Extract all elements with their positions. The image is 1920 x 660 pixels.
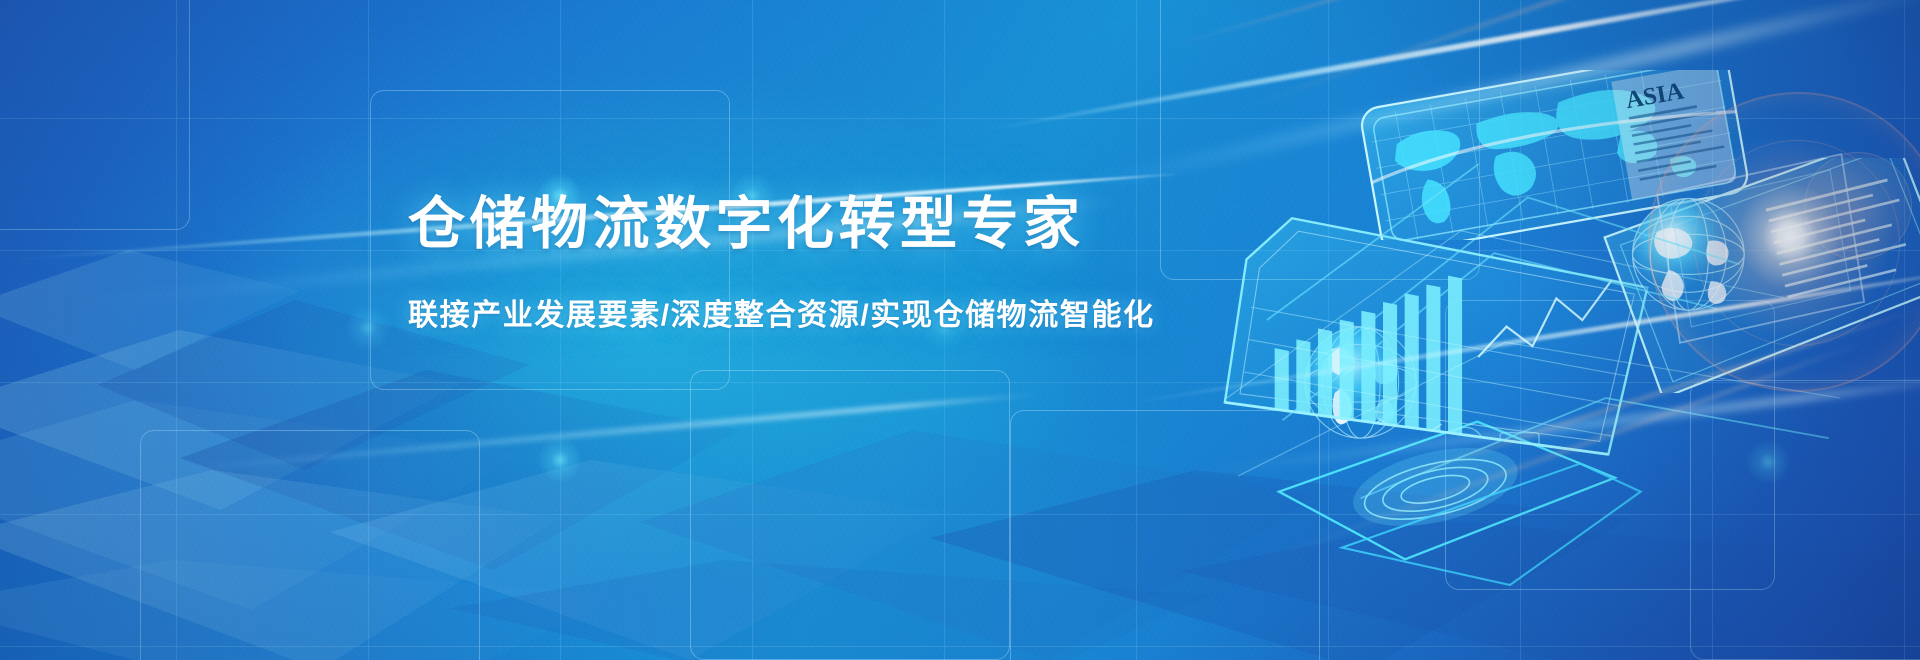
- light-streak-warm: [1329, 307, 1920, 502]
- glow-platform-rings: [1230, 350, 1650, 610]
- facet-plane: [1180, 520, 1920, 660]
- facet-plane: [0, 470, 560, 660]
- facet-plane: [180, 370, 740, 570]
- light-streak-warm: [1229, 0, 1920, 114]
- facet-plane: [930, 470, 1630, 660]
- grid-node-glow: [1745, 439, 1791, 485]
- facet-plane: [0, 330, 460, 510]
- facet-plane: [450, 560, 1210, 660]
- grid-rounded-box: [0, 0, 190, 230]
- data-text-panel: [1590, 158, 1920, 393]
- hero-banner: ASIA: [0, 0, 1920, 660]
- flare-core-glow: [1665, 111, 1915, 361]
- bar-chart-panel: [1175, 165, 1695, 525]
- light-streak: [1179, 373, 1920, 479]
- facet-plane: [0, 400, 520, 610]
- facet-plane: [0, 560, 620, 660]
- grid-rounded-box: [1445, 300, 1775, 590]
- world-map-panel: ASIA: [1360, 70, 1760, 240]
- light-streak: [1120, 264, 1920, 407]
- grid-rounded-box: [1160, 0, 1480, 280]
- grid-rounded-box: [140, 430, 480, 660]
- light-streak: [1059, 0, 1920, 198]
- hero-text-block: 仓储物流数字化转型专家 联接产业发展要素/深度整合资源/实现仓储物流智能化: [408, 196, 1108, 334]
- flare-orb: [1804, 152, 1912, 260]
- facet-plane: [330, 460, 950, 660]
- flare-halo-ring: [1648, 92, 1920, 392]
- grid-rounded-box: [1010, 410, 1320, 660]
- grid-node-glow: [537, 437, 583, 483]
- grid-rounded-box: [690, 370, 1010, 660]
- page-title: 仓储物流数字化转型专家: [408, 196, 1108, 253]
- flare-halo-ring: [1694, 140, 1900, 346]
- wireframe-globe-lower: [1278, 300, 1443, 465]
- glass-facet-panel: [1630, 130, 1880, 360]
- light-streak: [979, 0, 1906, 134]
- grid-node-glow: [345, 305, 391, 351]
- page-subtitle: 联接产业发展要素/深度整合资源/实现仓储物流智能化: [408, 290, 1108, 334]
- light-streak-warm: [1149, 0, 1920, 54]
- light-streak: [140, 392, 1037, 476]
- facet-plane: [640, 430, 1320, 660]
- asia-label: ASIA: [1624, 77, 1687, 114]
- light-streak-warm: [1259, 341, 1862, 564]
- grid-rounded-box: [1690, 380, 1920, 660]
- connector-beams: [1160, 30, 1920, 610]
- facet-plane: [0, 250, 300, 370]
- hologram-graphic: ASIA: [1230, 70, 1920, 590]
